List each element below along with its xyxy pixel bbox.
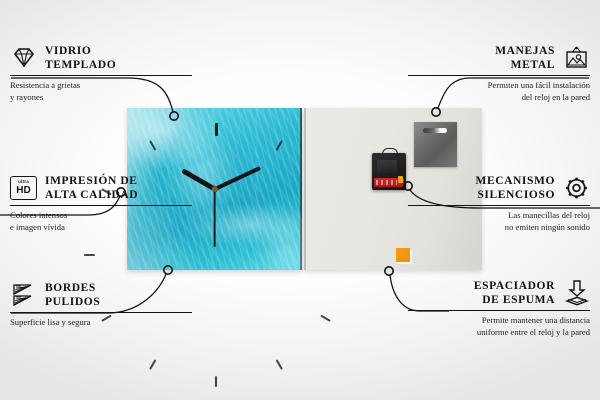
clock-center-cap <box>212 186 218 192</box>
feature-divider <box>408 310 590 311</box>
tick-9 <box>84 254 95 256</box>
tick-6 <box>215 376 217 387</box>
gear-icon <box>563 175 590 202</box>
feature-header: BORDES PULIDOS <box>10 281 192 309</box>
feature-impresion-alta-calidad: ultra HD IMPRESIÓN DE ALTA CALIDAD Color… <box>10 174 192 233</box>
feature-title: IMPRESIÓN DE ALTA CALIDAD <box>45 174 138 202</box>
feature-header: ultra HD IMPRESIÓN DE ALTA CALIDAD <box>10 174 192 202</box>
battery-positive-tip <box>398 176 403 183</box>
feature-description: Superficie lisa y segura <box>10 317 192 329</box>
hanging-frame-icon <box>563 45 590 72</box>
feature-description: Colores intensos e imagen vívida <box>10 210 192 233</box>
feature-title: ESPACIADOR DE ESPUMA <box>474 279 555 307</box>
feature-espaciador-de-espuma: ESPACIADOR DE ESPUMA Permite mantener un… <box>408 279 590 338</box>
mechanism-housing-detail <box>377 160 397 173</box>
feature-manejas-metal: MANEJAS METAL Permiten una fácil instala… <box>408 44 590 103</box>
battery <box>374 178 404 187</box>
hanger-slot <box>423 128 447 133</box>
ultra-hd-badge-icon: ultra HD <box>10 175 37 202</box>
feature-description: Permite mantener una distancia uniforme … <box>408 315 590 338</box>
feature-header: ESPACIADOR DE ESPUMA <box>408 279 590 307</box>
feature-description: Permiten una fácil instalación del reloj… <box>408 80 590 103</box>
tick-12 <box>215 123 218 136</box>
polished-edge-icon <box>10 282 37 309</box>
tick-11 <box>149 140 156 151</box>
feature-divider <box>408 75 590 76</box>
feature-title: MECANISMO SILENCIOSO <box>475 174 555 202</box>
feature-vidrio-templado: VIDRIO TEMPLADO Resistencia a grietas y … <box>10 44 192 103</box>
foam-spacer-icon <box>563 280 590 307</box>
mechanism-hanging-loop <box>382 148 398 157</box>
feature-divider <box>10 312 192 313</box>
feature-divider <box>408 205 590 206</box>
feature-title: VIDRIO TEMPLADO <box>45 44 116 72</box>
feature-divider <box>10 75 192 76</box>
feature-header: MANEJAS METAL <box>408 44 590 72</box>
quartz-mechanism <box>372 153 406 190</box>
tick-1 <box>275 140 282 151</box>
metal-hanger-plate <box>414 122 457 167</box>
battery-label-stripes <box>376 180 397 185</box>
feature-title: MANEJAS METAL <box>495 44 555 72</box>
tick-4 <box>320 315 331 322</box>
diamond-icon <box>10 45 37 72</box>
feature-bordes-pulidos: BORDES PULIDOS Superficie lisa y segura <box>10 281 192 329</box>
feature-mecanismo-silencioso: MECANISMO SILENCIOSO <box>408 174 590 233</box>
tick-7 <box>149 359 156 370</box>
feature-header: VIDRIO TEMPLADO <box>10 44 192 72</box>
feature-header: MECANISMO SILENCIOSO <box>408 174 590 202</box>
tick-5 <box>275 359 282 370</box>
feature-divider <box>10 205 192 206</box>
product-infographic: VIDRIO TEMPLADO Resistencia a grietas y … <box>0 0 600 400</box>
feature-title: BORDES PULIDOS <box>45 281 100 309</box>
foam-spacer-pad <box>396 248 410 262</box>
feature-description: Las manecillas del reloj no emiten ningú… <box>408 210 590 233</box>
clock-second-hand <box>214 189 216 247</box>
feature-description: Resistencia a grietas y rayones <box>10 80 192 103</box>
